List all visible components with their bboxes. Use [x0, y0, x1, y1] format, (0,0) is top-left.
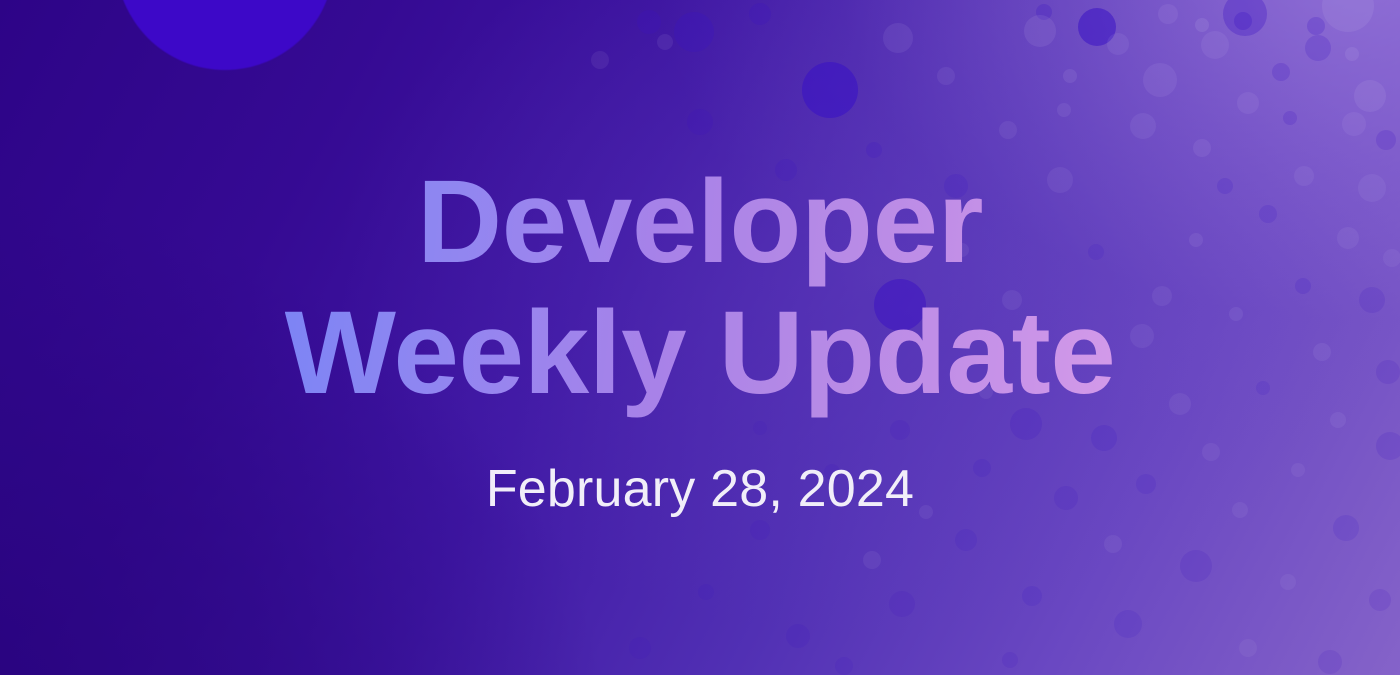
slide-content: Developer Weekly Update February 28, 202… [0, 0, 1400, 675]
title-slide: Developer Weekly Update February 28, 202… [0, 0, 1400, 675]
title-line-1: Developer [285, 157, 1116, 288]
title-line-2: Weekly Update [285, 288, 1116, 419]
page-title: Developer Weekly Update [285, 157, 1116, 425]
slide-date-subtitle: February 28, 2024 [486, 459, 914, 519]
